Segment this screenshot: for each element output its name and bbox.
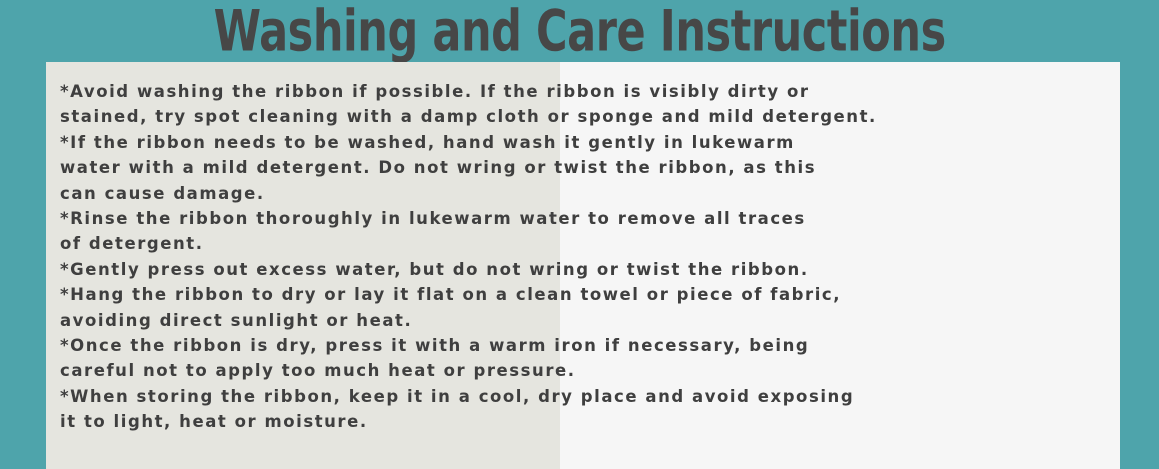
instruction-line: *If the ribbon needs to be washed, hand …: [60, 130, 1120, 155]
instruction-line: of detergent.: [60, 231, 1120, 256]
instruction-line: *When storing the ribbon, keep it in a c…: [60, 384, 1120, 409]
instructions-list: *Avoid washing the ribbon if possible. I…: [60, 79, 1120, 435]
instruction-line: *Once the ribbon is dry, press it with a…: [60, 333, 1120, 358]
instruction-line: *Rinse the ribbon thoroughly in lukewarm…: [60, 206, 1120, 231]
instruction-line: *Gently press out excess water, but do n…: [60, 257, 1120, 282]
instruction-line: *Avoid washing the ribbon if possible. I…: [60, 79, 1120, 104]
instruction-line: *Hang the ribbon to dry or lay it flat o…: [60, 282, 1120, 307]
instruction-line: can cause damage.: [60, 181, 1120, 206]
title-bar: Washing and Care Instructions: [0, 0, 1159, 62]
instruction-line: water with a mild detergent. Do not wrin…: [60, 155, 1120, 180]
instructions-card: *Avoid washing the ribbon if possible. I…: [46, 62, 1120, 469]
page-title: Washing and Care Instructions: [213, 1, 945, 60]
poster-root: Washing and Care Instructions *Avoid was…: [0, 0, 1159, 469]
instruction-line: stained, try spot cleaning with a damp c…: [60, 104, 1120, 129]
instruction-line: careful not to apply too much heat or pr…: [60, 358, 1120, 383]
instruction-line: avoiding direct sunlight or heat.: [60, 308, 1120, 333]
instruction-line: it to light, heat or moisture.: [60, 409, 1120, 434]
